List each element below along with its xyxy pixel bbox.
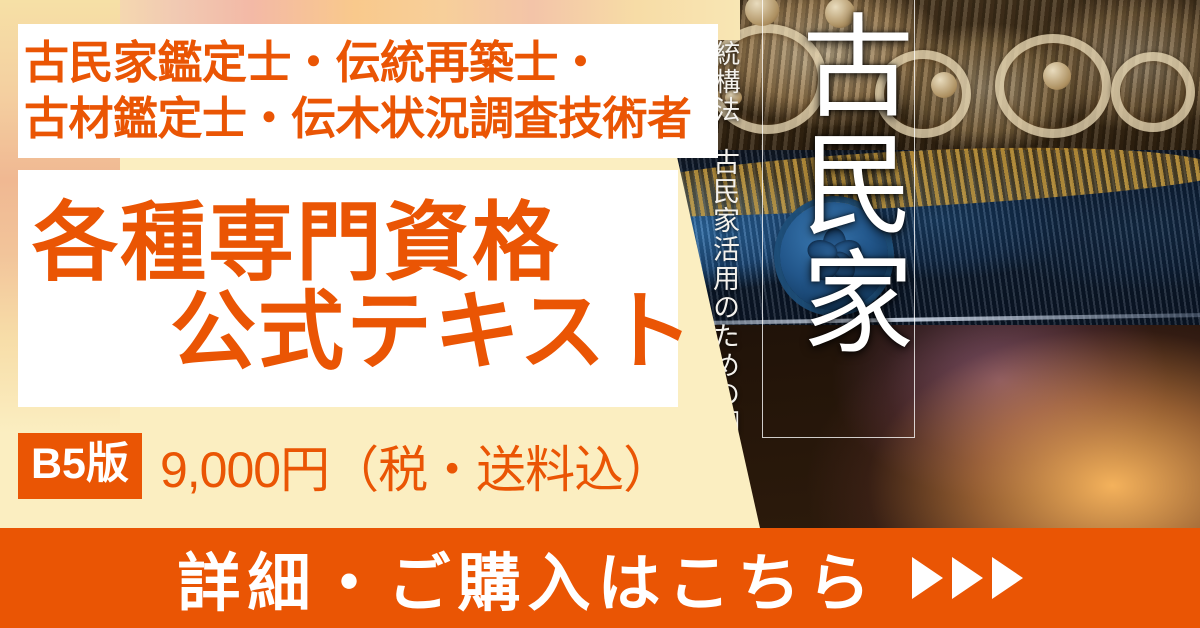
cta-arrows xyxy=(912,557,1023,599)
cta-label: 詳細・ご購入はこちら xyxy=(178,533,878,624)
triangle-right-icon xyxy=(912,557,943,599)
qualifications-list: 古民家鑑定士・伝統再築士・ 古材鑑定士・伝木状況調査技術者 xyxy=(18,26,724,156)
promotional-banner: 古民家 伝統構法 古民家活用のための調査と再生の 古民家鑑定士・伝統再築士・ 古… xyxy=(0,0,1200,628)
price-row: B5版 9,000円（税・送料込） xyxy=(18,430,672,502)
format-badge: B5版 xyxy=(18,433,142,499)
price-text: 9,000円（税・送料込） xyxy=(160,430,672,502)
triangle-right-icon xyxy=(992,557,1023,599)
triangle-right-icon xyxy=(952,557,983,599)
cta-button[interactable]: 詳細・ご購入はこちら xyxy=(0,528,1200,628)
cover-title-text: 古民家 xyxy=(771,8,907,362)
headline-line-1: 各種専門資格 xyxy=(18,199,680,288)
page-title: 各種専門資格 公式テキスト xyxy=(18,172,680,404)
qualification-line-2: 古材鑑定士・伝木状況調査技術者 xyxy=(24,91,724,147)
qualification-line-1: 古民家鑑定士・伝統再築士・ xyxy=(24,35,724,91)
headline-line-2: 公式テキスト xyxy=(18,288,680,377)
